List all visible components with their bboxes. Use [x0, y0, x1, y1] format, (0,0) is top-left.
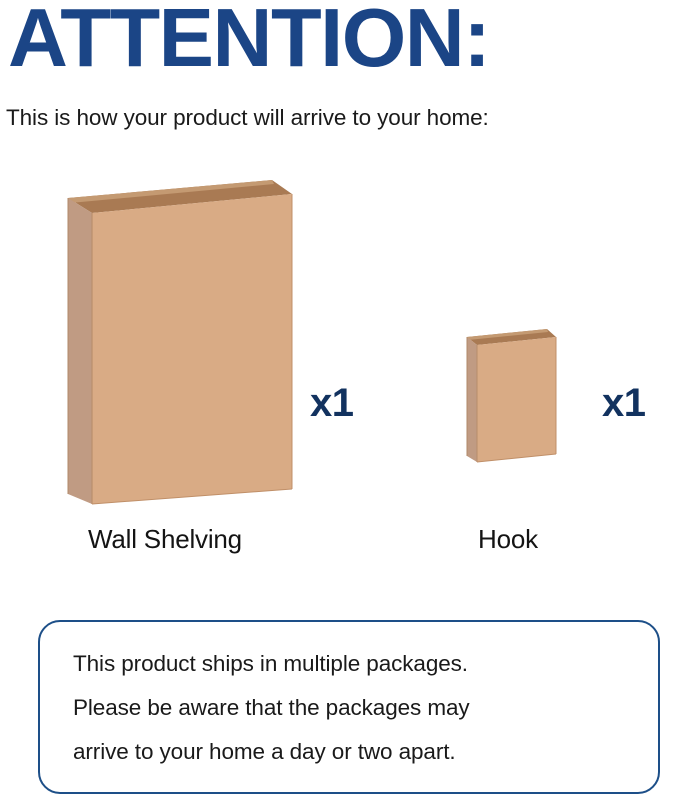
package-name-hook: Hook — [478, 526, 538, 552]
shipping-notice-callout: This product ships in multiple packages.… — [38, 620, 660, 794]
shipping-box-icon-large — [60, 164, 294, 519]
package-item-wall-shelving — [60, 164, 294, 519]
notice-line-3: arrive to your home a day or two apart. — [73, 730, 642, 774]
shipping-notice-text: This product ships in multiple packages.… — [73, 642, 642, 774]
shipping-box-icon-small — [463, 323, 559, 469]
notice-line-1: This product ships in multiple packages. — [73, 642, 642, 686]
quantity-label-hook: x1 — [602, 383, 646, 423]
notice-line-2: Please be aware that the packages may — [73, 686, 642, 730]
package-name-wall-shelving: Wall Shelving — [88, 526, 242, 552]
quantity-label-wall-shelving: x1 — [310, 383, 354, 423]
page-title: ATTENTION: — [8, 0, 489, 79]
package-illustration-area: x1 x1 Wall Shelving Hook — [0, 150, 679, 590]
attention-shipping-graphic: ATTENTION: This is how your product will… — [0, 0, 679, 808]
package-item-hook — [463, 323, 559, 469]
page-subtitle: This is how your product will arrive to … — [6, 104, 489, 131]
